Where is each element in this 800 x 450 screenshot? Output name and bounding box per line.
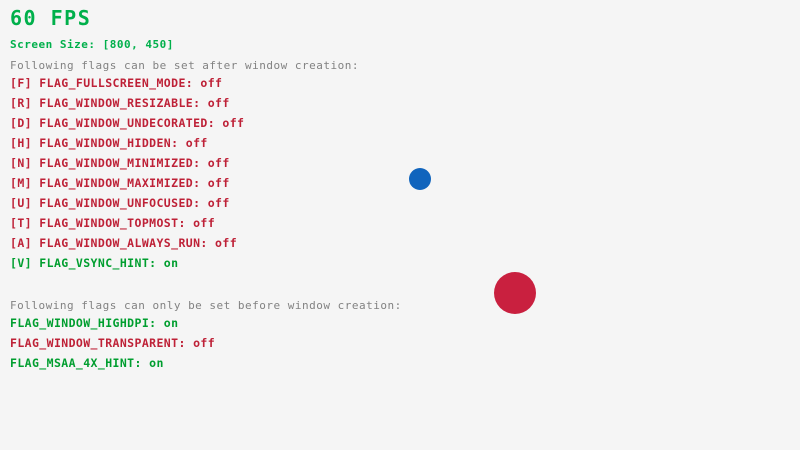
flag-row-vsync-hint[interactable]: [V] FLAG_VSYNC_HINT: on	[10, 258, 178, 270]
fps-counter: 60 FPS	[10, 8, 91, 28]
flag-row-msaa-4x-hint: FLAG_MSAA_4X_HINT: on	[10, 358, 164, 370]
flag-row-window-always-run[interactable]: [A] FLAG_WINDOW_ALWAYS_RUN: off	[10, 238, 237, 250]
flag-row-window-minimized[interactable]: [N] FLAG_WINDOW_MINIMIZED: off	[10, 158, 230, 170]
screen-size-label: Screen Size: [800, 450]	[10, 39, 174, 50]
flag-row-window-maximized[interactable]: [M] FLAG_WINDOW_MAXIMIZED: off	[10, 178, 230, 190]
flag-row-window-highdpi: FLAG_WINDOW_HIGHDPI: on	[10, 318, 178, 330]
red-ball	[494, 272, 536, 314]
flag-row-fullscreen-mode[interactable]: [F] FLAG_FULLSCREEN_MODE: off	[10, 78, 222, 90]
raylib-window-canvas[interactable]: 60 FPS Screen Size: [800, 450] Following…	[0, 0, 800, 450]
flag-row-window-transparent: FLAG_WINDOW_TRANSPARENT: off	[10, 338, 215, 350]
flags-before-creation-header: Following flags can only be set before w…	[10, 300, 402, 311]
flag-row-window-resizable[interactable]: [R] FLAG_WINDOW_RESIZABLE: off	[10, 98, 230, 110]
flag-row-window-topmost[interactable]: [T] FLAG_WINDOW_TOPMOST: off	[10, 218, 215, 230]
flag-row-window-unfocused[interactable]: [U] FLAG_WINDOW_UNFOCUSED: off	[10, 198, 230, 210]
blue-ball	[409, 168, 431, 190]
flags-after-creation-header: Following flags can be set after window …	[10, 60, 359, 71]
flag-row-window-hidden[interactable]: [H] FLAG_WINDOW_HIDDEN: off	[10, 138, 208, 150]
flag-row-window-undecorated[interactable]: [D] FLAG_WINDOW_UNDECORATED: off	[10, 118, 244, 130]
